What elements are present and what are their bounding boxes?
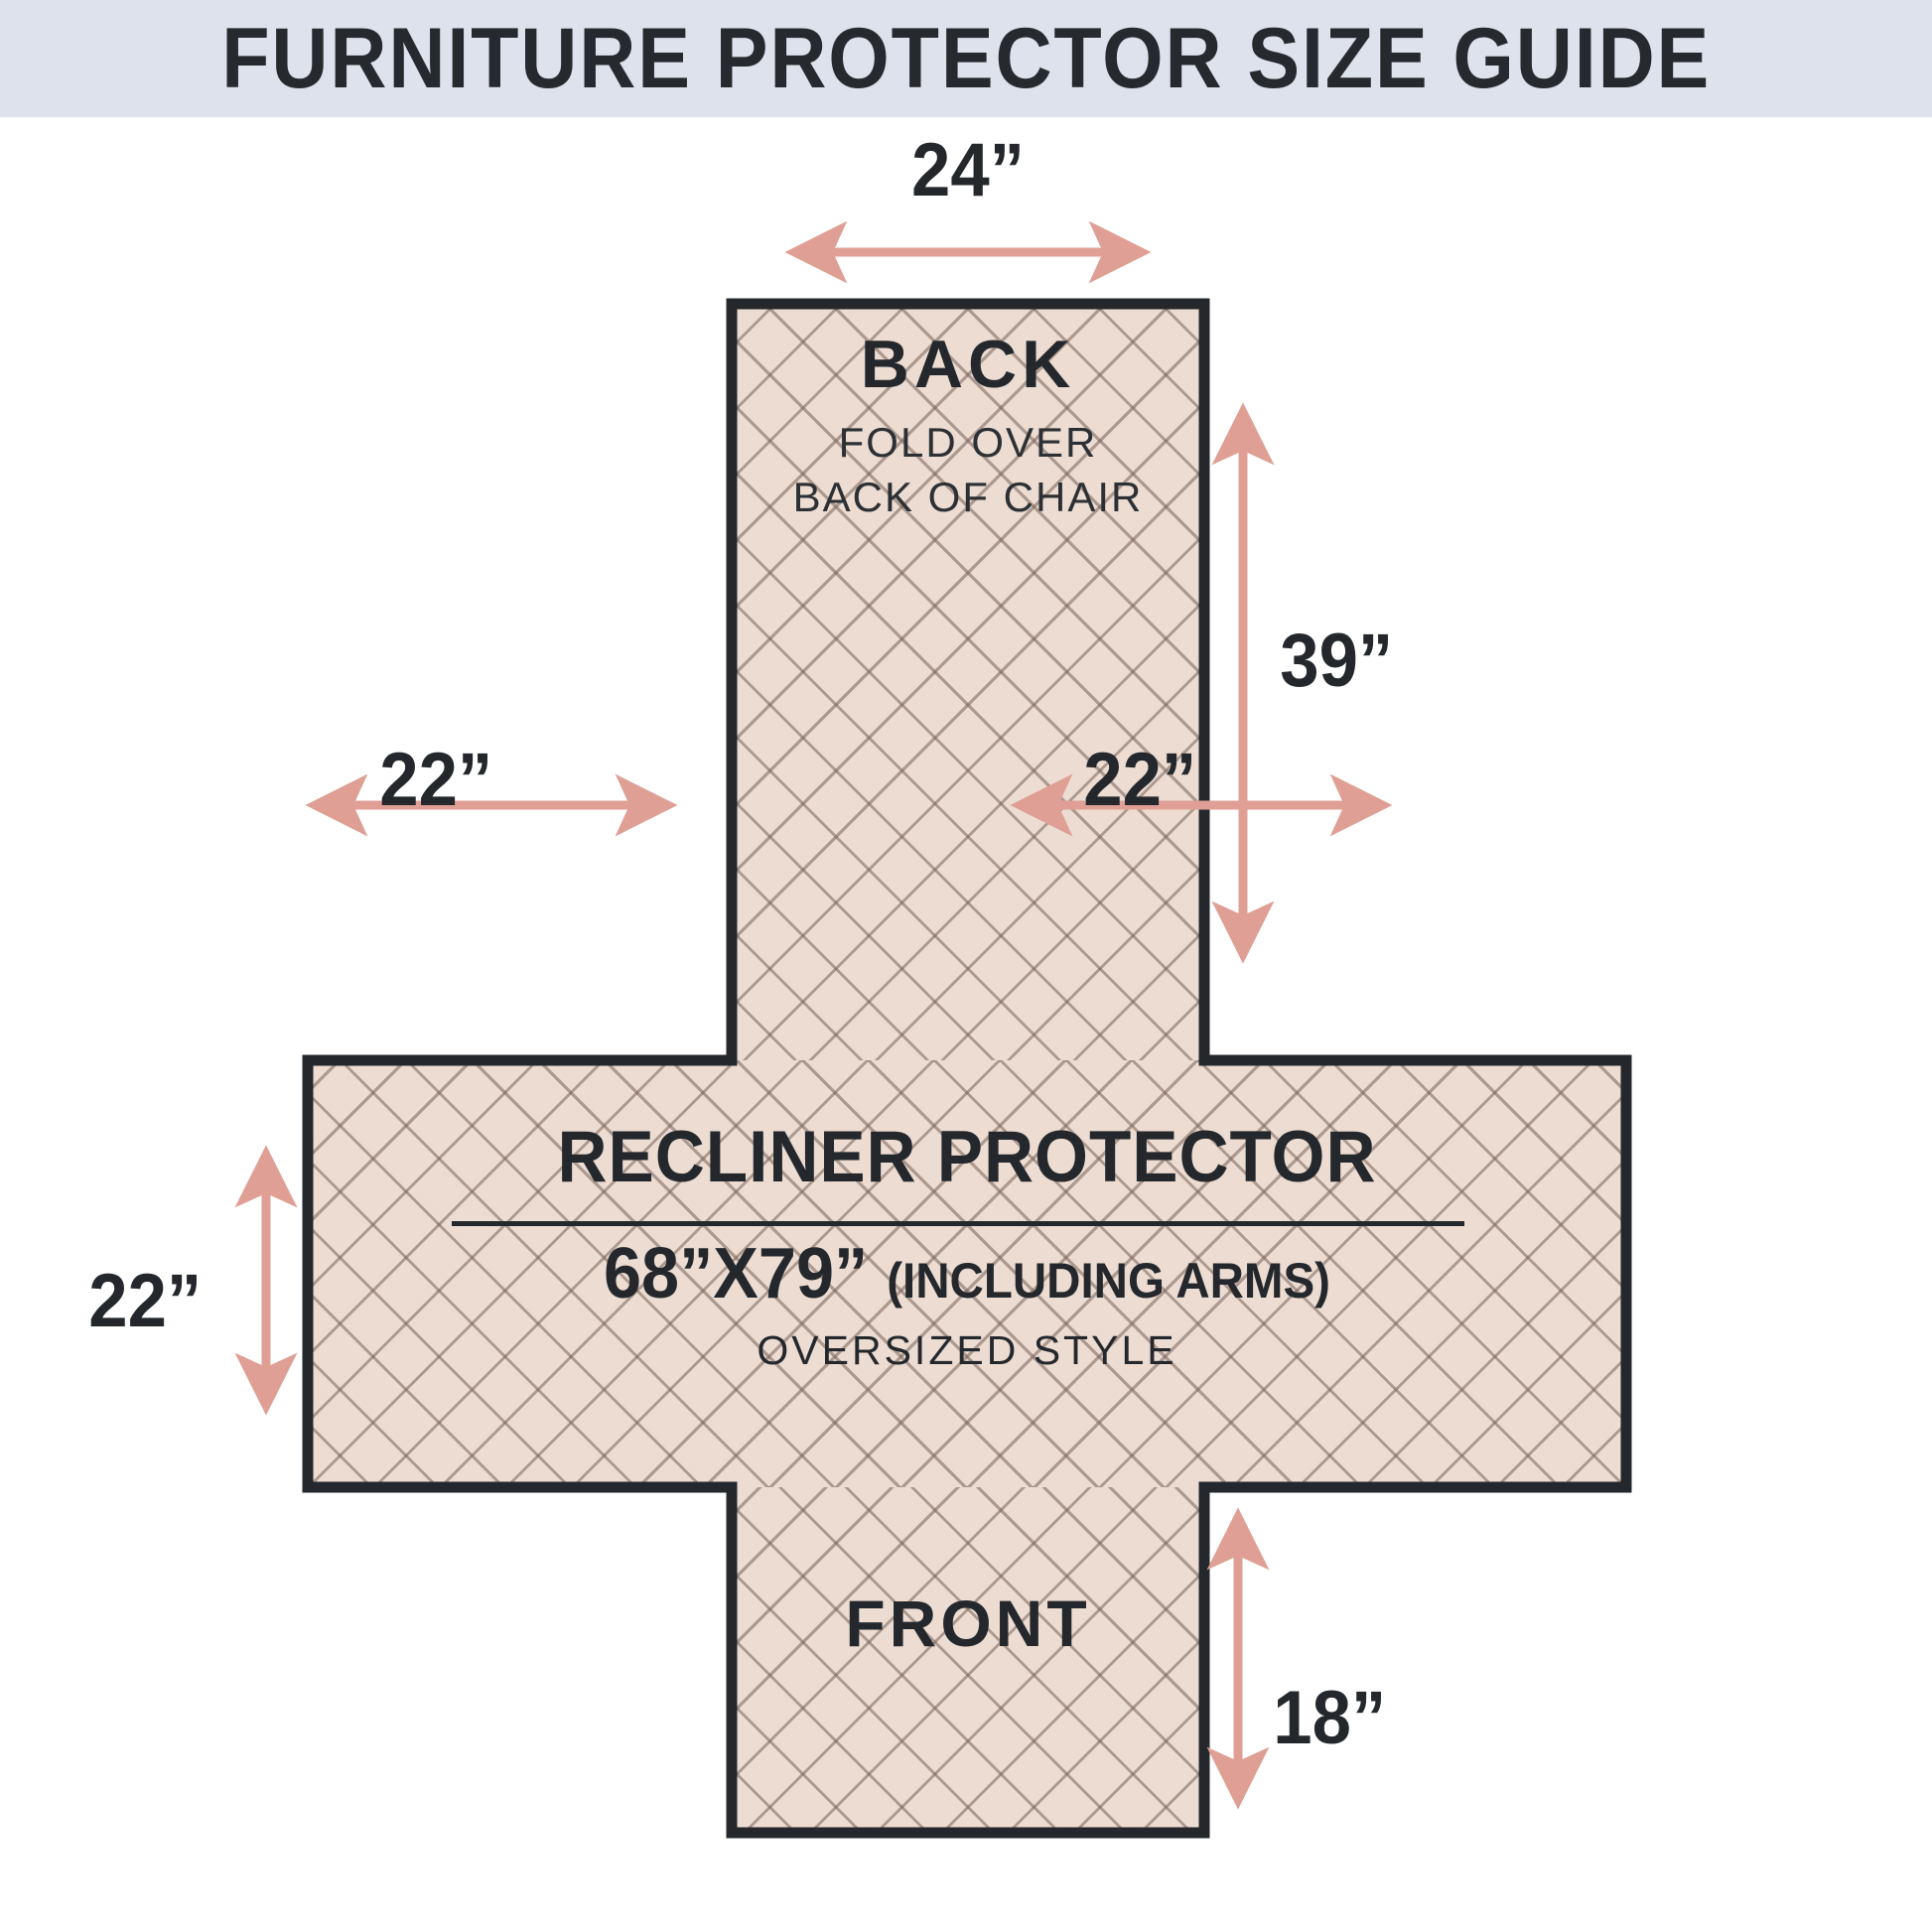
diagram-stage: BACK FOLD OVER BACK OF CHAIR RECLINER PR… xyxy=(0,117,1932,1932)
dimension-arrows xyxy=(0,117,1932,1932)
dimension-label-back-width: 24” xyxy=(802,133,1135,208)
page-title: FURNITURE PROTECTOR SIZE GUIDE xyxy=(221,16,1711,101)
dimension-label-left-arm-width: 22” xyxy=(379,743,492,818)
dimension-label-right-arm-width: 22” xyxy=(1083,743,1196,818)
dimension-label-back-height: 39” xyxy=(1280,623,1393,699)
dimension-label-arm-depth: 22” xyxy=(88,1264,202,1339)
dimension-label-front-height: 18” xyxy=(1273,1681,1386,1756)
header-banner: FURNITURE PROTECTOR SIZE GUIDE xyxy=(0,0,1932,117)
